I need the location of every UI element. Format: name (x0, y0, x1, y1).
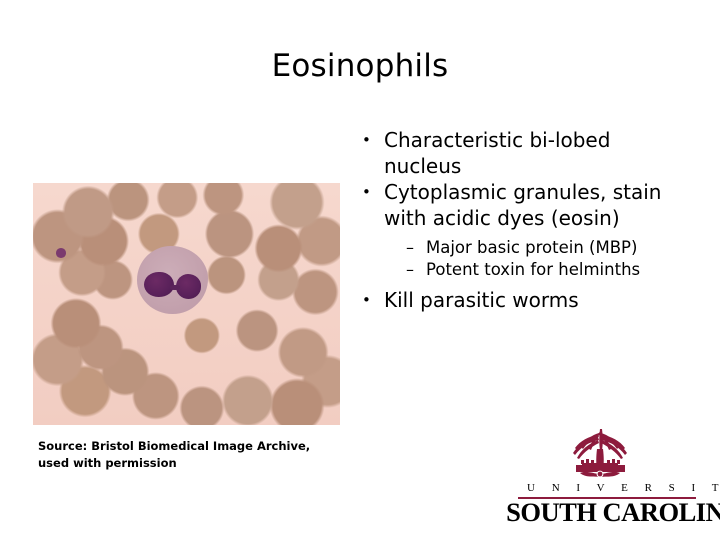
bullet-text: Characteristic bi-lobed nucleus (384, 128, 682, 179)
eosinophil-cell (137, 246, 208, 314)
platelet-speck (56, 248, 66, 258)
bullet-marker-icon: • (362, 288, 384, 314)
bullet-kill-parasitic-worms: • Kill parasitic worms (362, 288, 682, 314)
content-body: • Characteristic bi-lobed nucleus • Cyto… (362, 128, 682, 315)
blood-smear-micrograph-image (33, 183, 340, 425)
micrograph-figure (33, 183, 340, 425)
nucleus-lobe-left-icon (144, 272, 174, 298)
page-title: Eosinophils (0, 48, 720, 85)
sub-bullet-group: – Major basic protein (MBP) – Potent tox… (362, 237, 682, 280)
bullet-marker-icon: • (362, 128, 384, 154)
bullet-characteristic-bi-lobed-nucleus: • Characteristic bi-lobed nucleus (362, 128, 682, 179)
bullet-cytoplasmic-granules: • Cytoplasmic granules, stain with acidi… (362, 180, 682, 231)
sub-bullet-major-basic-protein: – Major basic protein (MBP) (406, 237, 682, 258)
dash-marker-icon: – (406, 259, 426, 280)
palmetto-tree-icon (554, 424, 646, 482)
bullet-text: Kill parasitic worms (384, 288, 682, 314)
sub-bullet-potent-toxin-for-helminths: – Potent toxin for helminths (406, 259, 682, 280)
sub-bullet-text: Major basic protein (MBP) (426, 237, 682, 258)
university-of-south-carolina-logo: U N I V E R S I T Y O F SOUTH CAROLINA (508, 424, 696, 520)
bullet-marker-icon: • (362, 180, 384, 206)
bullet-text: Cytoplasmic granules, stain with acidic … (384, 180, 682, 231)
dash-marker-icon: – (406, 237, 426, 258)
sub-bullet-text: Potent toxin for helminths (426, 259, 682, 280)
nucleus-bridge (170, 285, 180, 290)
usc-south-carolina-text: SOUTH CAROLINA (506, 498, 698, 528)
usc-university-of-text: U N I V E R S I T Y O F (520, 482, 696, 494)
figure-source-caption: Source: Bristol Biomedical Image Archive… (38, 438, 338, 471)
